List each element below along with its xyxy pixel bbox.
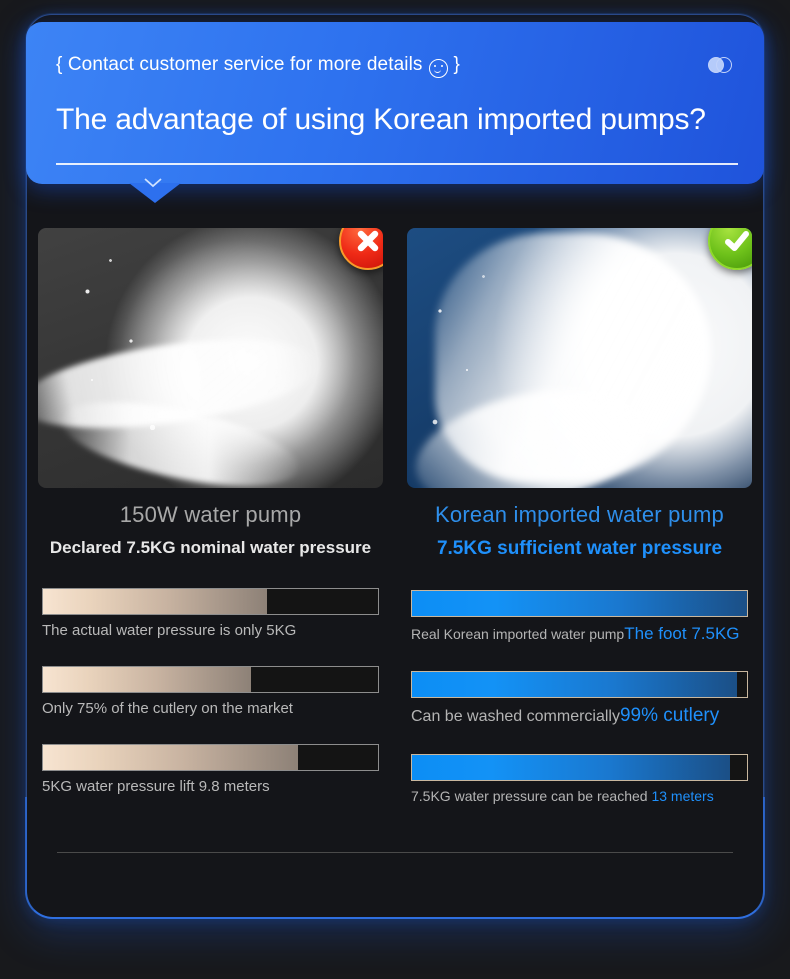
metric-track (42, 588, 379, 615)
header-kicker-suffix: } (454, 54, 460, 76)
contrast-icon-outline-circle (716, 57, 732, 73)
metric-fill (412, 755, 730, 780)
metric-fill (412, 591, 747, 616)
photo-good-pump (407, 228, 752, 488)
metric-label: Real Korean imported water pumpThe foot … (411, 624, 748, 644)
metric-label: The actual water pressure is only 5KG (42, 622, 379, 639)
metric-track (411, 671, 748, 698)
metric-row: Only 75% of the cutlery on the market (42, 666, 379, 717)
metric-fill (43, 745, 298, 770)
header-top-row: { Contact customer service for more deta… (56, 54, 734, 76)
metric-row: Can be washed commercially99% cutlery (411, 671, 748, 727)
metric-track (42, 666, 379, 693)
metric-label: Only 75% of the cutlery on the market (42, 700, 379, 717)
contrast-toggle-icon[interactable] (708, 57, 734, 73)
metric-row: 5KG water pressure lift 9.8 meters (42, 744, 379, 795)
good-pump-subtitle: 7.5KG sufficient water pressure (407, 538, 752, 560)
metric-label: 5KG water pressure lift 9.8 meters (42, 778, 379, 795)
water-droplets (407, 228, 752, 488)
header-kicker: { Contact customer service for more deta… (56, 54, 460, 76)
comparison-column-bad: 150W water pump Declared 7.5KG nominal w… (38, 228, 383, 804)
page-title: The advantage of using Korean imported p… (56, 103, 706, 137)
metric-label-text: Real Korean imported water pump (411, 626, 624, 642)
metric-row: Real Korean imported water pumpThe foot … (411, 590, 748, 644)
bad-metrics-list: The actual water pressure is only 5KG On… (38, 588, 383, 795)
bad-pump-subtitle: Declared 7.5KG nominal water pressure (38, 538, 383, 558)
metric-label-highlight: 99% cutlery (620, 705, 719, 726)
header-divider (56, 163, 738, 165)
metric-fill (43, 667, 251, 692)
water-droplets (38, 228, 383, 488)
question-header: { Contact customer service for more deta… (26, 22, 764, 184)
comparison-column-good: Korean imported water pump 7.5KG suffici… (407, 228, 752, 804)
metric-track (411, 754, 748, 781)
comparison-grid: 150W water pump Declared 7.5KG nominal w… (38, 228, 752, 804)
metric-row: The actual water pressure is only 5KG (42, 588, 379, 639)
metric-label-text: Can be washed commercially (411, 708, 620, 725)
bad-pump-title: 150W water pump (38, 502, 383, 528)
good-pump-title: Korean imported water pump (407, 502, 752, 528)
metric-label: Can be washed commercially99% cutlery (411, 705, 748, 727)
metric-label-text: 7.5KG water pressure can be reached (411, 788, 651, 804)
metric-label-highlight: The foot 7.5KG (624, 624, 739, 643)
metric-row: 7.5KG water pressure can be reached 13 m… (411, 754, 748, 804)
smiley-face-icon (429, 59, 448, 78)
bottom-divider (57, 852, 733, 853)
chevron-down-icon[interactable] (144, 178, 162, 188)
photo-bad-pump (38, 228, 383, 488)
header-kicker-prefix: { Contact customer service for more deta… (56, 54, 423, 76)
metric-label-highlight: 13 meters (651, 788, 713, 804)
good-metrics-list: Real Korean imported water pumpThe foot … (407, 590, 752, 804)
metric-fill (412, 672, 737, 697)
metric-track (411, 590, 748, 617)
metric-track (42, 744, 379, 771)
metric-label: 7.5KG water pressure can be reached 13 m… (411, 788, 748, 804)
screen-root: { Contact customer service for more deta… (0, 0, 790, 979)
metric-fill (43, 589, 267, 614)
